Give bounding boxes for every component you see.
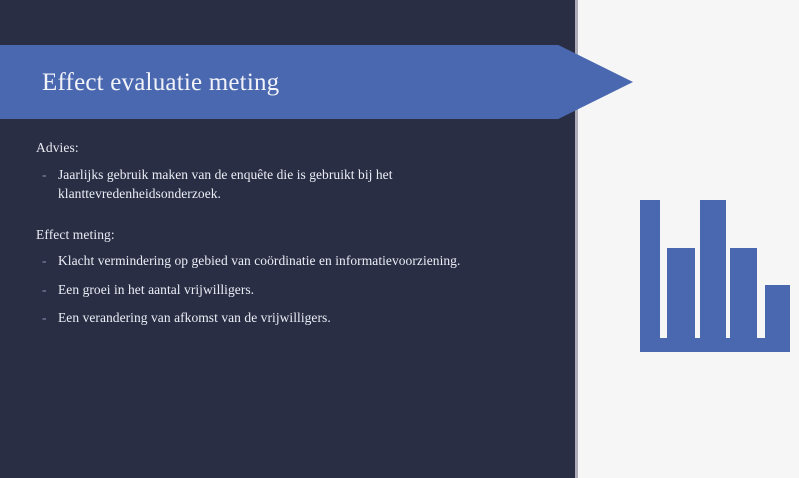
list-item: - Een groei in het aantal vrijwilligers. xyxy=(36,280,536,299)
list-item: - Een verandering van afkomst van de vri… xyxy=(36,308,536,327)
page-title: Effect evaluatie meting xyxy=(0,70,279,95)
section-heading: Effect meting: xyxy=(36,225,536,245)
title-banner: Effect evaluatie meting xyxy=(0,45,633,119)
bullet-text: Klacht vermindering op gebied van coördi… xyxy=(58,251,536,270)
bullet-text: Jaarlijks gebruik maken van de enquête d… xyxy=(58,165,536,203)
bullet-dash-icon: - xyxy=(36,308,58,327)
list-item: - Klacht vermindering op gebied van coör… xyxy=(36,251,536,270)
bullet-text: Een groei in het aantal vrijwilligers. xyxy=(58,280,536,299)
section-advies: Advies: - Jaarlijks gebruik maken van de… xyxy=(36,138,536,203)
bullet-list: - Jaarlijks gebruik maken van de enquête… xyxy=(36,165,536,203)
slide: Effect evaluatie meting Advies: - Jaarli… xyxy=(0,0,799,478)
bar-chart-icon xyxy=(638,198,792,354)
section-heading: Advies: xyxy=(36,138,536,158)
bullet-dash-icon: - xyxy=(36,280,58,299)
section-effect-meting: Effect meting: - Klacht vermindering op … xyxy=(36,225,536,327)
slide-content: Advies: - Jaarlijks gebruik maken van de… xyxy=(36,138,536,327)
bullet-text: Een verandering van afkomst van de vrijw… xyxy=(58,308,536,327)
list-item: - Jaarlijks gebruik maken van de enquête… xyxy=(36,165,536,203)
bullet-dash-icon: - xyxy=(36,165,58,184)
bullet-dash-icon: - xyxy=(36,251,58,270)
bullet-list: - Klacht vermindering op gebied van coör… xyxy=(36,251,536,326)
